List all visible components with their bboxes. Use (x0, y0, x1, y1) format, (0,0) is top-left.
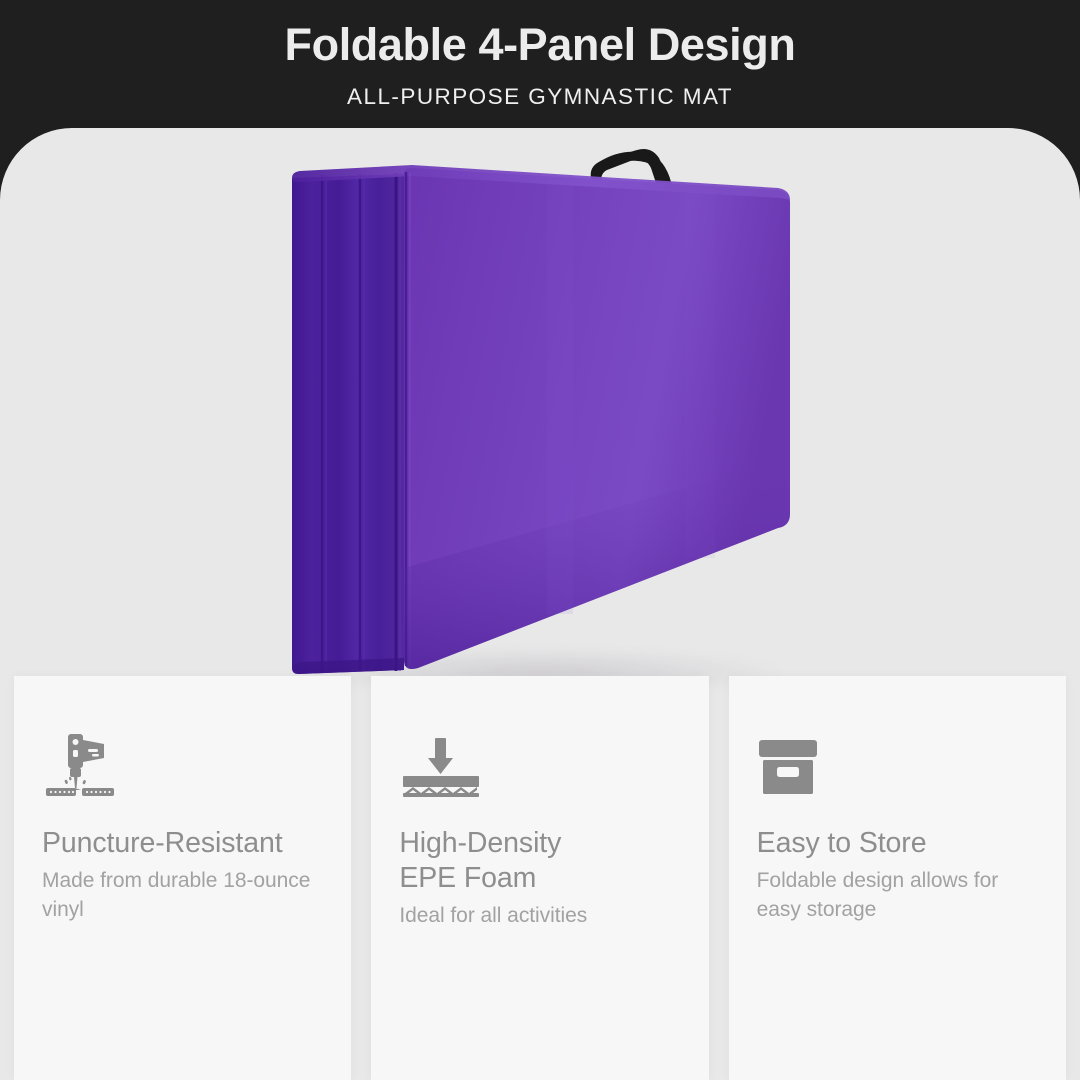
feature-card-body: Ideal for all activities (399, 901, 680, 930)
feature-card-body: Made from durable 18-ounce vinyl (42, 866, 323, 924)
product-feature-graphic: Foldable 4-Panel Design ALL-PURPOSE GYMN… (0, 0, 1080, 1080)
foam-compression-icon (399, 720, 680, 798)
feature-card-easy-to-store: Easy to Store Foldable design allows for… (729, 676, 1066, 1080)
feature-card-title: Puncture-Resistant (42, 826, 323, 861)
feature-card-body: Foldable design allows for easy storage (757, 866, 1038, 924)
feature-cards: Puncture-Resistant Made from durable 18-… (0, 676, 1080, 1080)
needle-puncture-icon (42, 720, 323, 798)
storage-box-icon (757, 720, 1038, 798)
feature-card-title: High-Density EPE Foam (399, 826, 680, 896)
page-title: Foldable 4-Panel Design (0, 18, 1080, 72)
product-stage: Puncture-Resistant Made from durable 18-… (0, 128, 1080, 1080)
page-subtitle: ALL-PURPOSE GYMNASTIC MAT (0, 83, 1080, 111)
feature-card-title: Easy to Store (757, 826, 1038, 861)
header-band: Foldable 4-Panel Design ALL-PURPOSE GYMN… (0, 0, 1080, 128)
feature-card-high-density-foam: High-Density EPE Foam Ideal for all acti… (371, 676, 708, 1080)
feature-card-puncture-resistant: Puncture-Resistant Made from durable 18-… (14, 676, 351, 1080)
